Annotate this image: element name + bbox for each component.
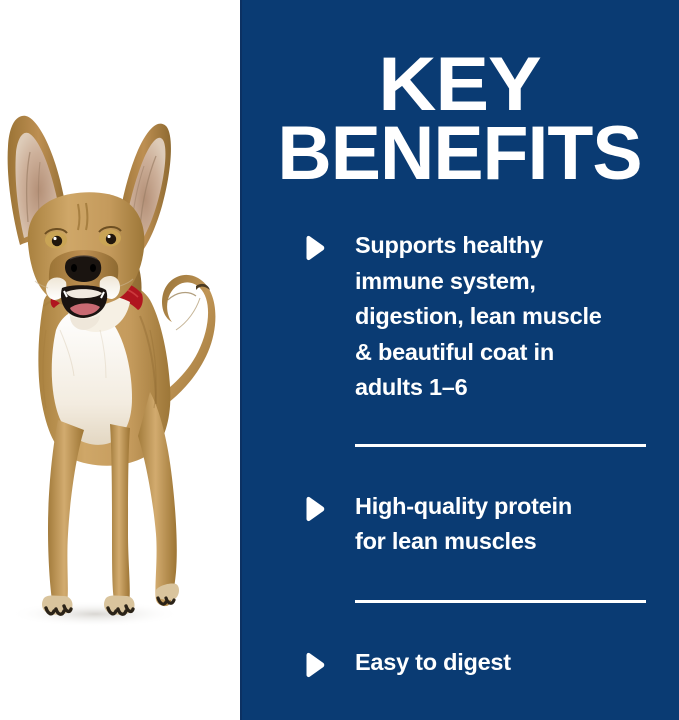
benefit-text: Easy to digest	[355, 645, 651, 681]
page-title: KEY BENEFITS	[240, 52, 679, 188]
dog-photo	[0, 0, 240, 720]
play-triangle-icon	[302, 496, 326, 522]
benefit-item: High-quality protein for lean muscles	[240, 489, 679, 560]
title-line-2: BENEFITS	[242, 121, 677, 188]
benefit-text: High-quality protein for lean muscles	[355, 489, 651, 560]
benefits-list: Supports healthy immune system, digestio…	[240, 228, 679, 680]
play-triangle-icon	[302, 652, 326, 678]
benefit-item: Supports healthy immune system, digestio…	[240, 228, 679, 406]
key-benefits-panel: KEY BENEFITS Supports healthy immune sys…	[240, 0, 679, 720]
product-feature-graphic: KEY BENEFITS Supports healthy immune sys…	[0, 0, 679, 720]
play-triangle-icon	[302, 235, 326, 261]
benefit-item: Easy to digest	[240, 645, 679, 681]
benefit-text: Supports healthy immune system, digestio…	[355, 228, 651, 406]
dog-photo-pane	[0, 0, 240, 720]
title-line-1: KEY	[227, 52, 679, 119]
